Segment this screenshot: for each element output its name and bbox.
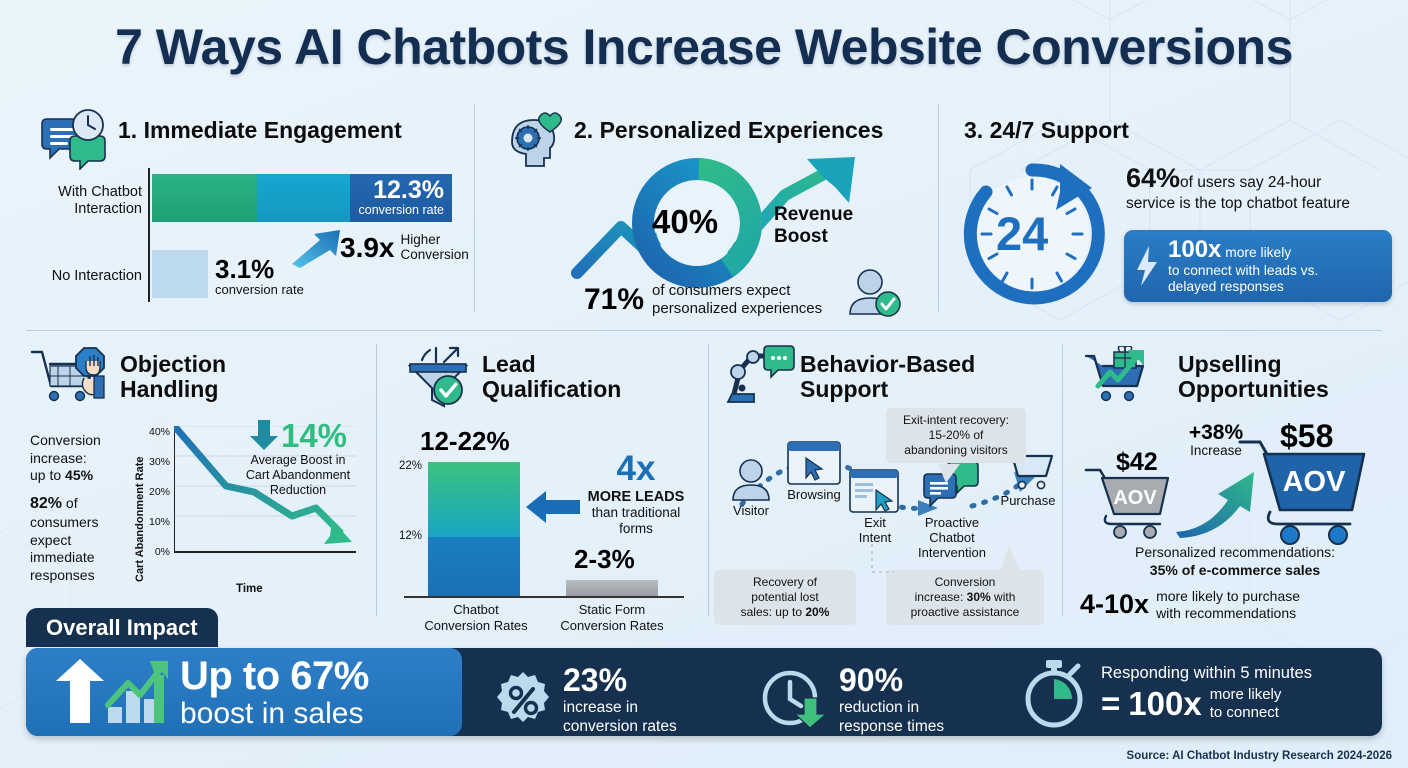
panel-objection-handling: Objection Handling Conversion increase: … — [0, 340, 376, 616]
panel1-row2-label: No Interaction — [10, 268, 142, 285]
panel4-title: Objection Handling — [120, 352, 226, 402]
stopwatch-big: 100x — [1128, 684, 1201, 724]
panel6-callout-conversion: Conversion increase: 30% with proactive … — [886, 570, 1044, 625]
panel1-multiplier: 3.9x — [340, 232, 395, 264]
panel5-tick-12: 12% — [384, 530, 422, 542]
panel1-row1-label: With Chatbot Interaction — [10, 184, 142, 218]
panel6-step-4-label: Proactive Chatbot Intervention — [906, 516, 998, 561]
panel5-cat-1: Chatbot Conversion Rates — [420, 602, 532, 633]
up-arrow-bar-chart-icon — [40, 657, 168, 727]
panel1-multiplier-note: Higher Conversion — [401, 233, 469, 263]
panel3-stat-text-l2: service is the top chatbot feature — [1126, 195, 1350, 212]
panel5-tick-22: 22% — [384, 460, 422, 472]
panel-behavior-based-support: Behavior-Based Support Visitor Browsing — [708, 340, 1062, 620]
panel6-callout-right-tail — [998, 546, 1022, 572]
bottom-item-conversion: 23% increase in conversion rates — [494, 664, 677, 736]
overall-impact-hero-text: Up to 67% boost in sales — [180, 656, 369, 729]
infographic-root: 7 Ways AI Chatbots Increase Website Conv… — [0, 0, 1408, 768]
panel6-title: Behavior-Based Support — [800, 352, 975, 402]
panel5-stat-number: 4x — [576, 452, 696, 485]
browser-exit-icon — [848, 468, 900, 514]
panel7-stat-group: 4-10x more likely to purchase with recom… — [1080, 588, 1300, 622]
panel5-chatbot-bar-lower — [428, 537, 520, 596]
panel-immediate-engagement: 1. Immediate Engagement With Chatbot Int… — [0, 100, 474, 315]
panel6-step-1-label: Visitor — [718, 504, 784, 519]
panel1-row1-value-group: 12.3% conversion rate — [359, 178, 444, 217]
panel3-stat: 64%of users say 24-hour service is the t… — [1126, 162, 1398, 214]
panel2-donut-label: Revenue Boost — [774, 204, 853, 248]
panel3-highlight-card: 100x more likely to connect with leads v… — [1124, 230, 1392, 302]
panel-upselling-opportunities: Upselling Opportunities $42 AOV $58 AOV … — [1062, 340, 1408, 620]
panel-lead-qualification: Lead Qualification 12-22% 22% 12% Chatbo… — [376, 340, 708, 620]
panel4-tick-10: 10% — [140, 516, 170, 528]
panel6-step-2-label: Browsing — [778, 488, 850, 503]
panel4-tick-0: 0% — [140, 546, 170, 558]
robot-arm-chat-icon — [722, 344, 798, 406]
user-check-icon — [848, 268, 902, 318]
panel6-callout-recovery: Recovery of potential lost sales: up to … — [714, 570, 856, 625]
panel5-x-axis — [404, 596, 684, 598]
cart-stop-hand-icon — [28, 344, 108, 410]
panel5-range-label: 12-22% — [420, 426, 510, 457]
panel5-chatbot-bar-upper — [428, 462, 520, 537]
panel7-stat-text: more likely to purchase with recommendat… — [1156, 588, 1300, 622]
stopwatch-eq: = — [1101, 684, 1120, 724]
down-arrow-icon — [249, 418, 279, 452]
chat-clock-icon — [36, 108, 112, 170]
svg-text:AOV: AOV — [1113, 487, 1157, 509]
panel6-step-5-label: Purchase — [994, 494, 1062, 509]
panel6-callout-exit-intent: Exit-intent recovery: 15-20% of abandoni… — [886, 408, 1026, 463]
overall-impact-tab: Overall Impact — [26, 608, 218, 647]
panel6-step-3-label: Exit Intent — [840, 516, 910, 546]
panel7-increase-number: +38% — [1170, 422, 1262, 443]
clock-down-arrow-icon — [762, 670, 828, 730]
panel5-cat-2: Static Form Conversion Rates — [556, 602, 668, 633]
panel2-donut-value: 40% — [652, 203, 718, 241]
browser-cursor-icon — [786, 440, 842, 486]
panel3-clock-number: 24 — [996, 206, 1048, 261]
panel5-static-bar — [566, 580, 658, 596]
panel4-highlight-group: 14% Average Boost in Cart Abandonment Re… — [222, 418, 374, 497]
bottom-item-response-time: 90% reduction in response times — [762, 664, 944, 736]
panel5-static-label: 2-3% — [574, 544, 635, 575]
panel7-stat-number: 4-10x — [1080, 589, 1149, 620]
panel2-title: 2. Personalized Experiences — [574, 118, 883, 143]
panel5-stat-sub: than traditional forms — [576, 505, 696, 536]
panel4-note-2: 82% of consumers expect immediate respon… — [30, 494, 125, 584]
panel4-tick-40: 40% — [140, 426, 170, 438]
panel5-stat-main: MORE LEADS — [576, 489, 696, 505]
panel-personalized-experiences: 2. Personalized Experiences 40% — [474, 100, 938, 315]
panel3-stat-text-l1: of users say 24-hour — [1180, 174, 1321, 191]
panel6-dotted-connector — [866, 544, 896, 578]
source-note: Source: AI Chatbot Industry Research 202… — [1127, 750, 1392, 762]
svg-text:AOV: AOV — [1283, 466, 1347, 498]
page-title: 7 Ways AI Chatbots Increase Website Conv… — [0, 18, 1408, 76]
stopwatch-icon — [1018, 658, 1090, 730]
panel1-bar-no-interaction — [152, 250, 208, 298]
panel1-title: 1. Immediate Engagement — [118, 118, 402, 143]
brain-gear-heart-icon — [504, 108, 570, 170]
panel1-multiplier-group: 3.9x Higher Conversion — [340, 232, 469, 264]
divider-h1 — [26, 330, 1382, 331]
panel2-stat-number: 71% — [584, 283, 644, 317]
panel2-stat-text: of consumers expect personalized experie… — [652, 282, 822, 317]
bottom-item-stopwatch: Responding within 5 minutes = 100x more … — [1018, 658, 1312, 730]
person-icon — [730, 458, 772, 502]
panel-247-support: 3. 24/7 Support 24 64%of users say 24-ho… — [938, 100, 1408, 315]
panel3-card-text: 100x more likely to connect with leads v… — [1168, 236, 1318, 296]
panel7-title: Upselling Opportunities — [1178, 352, 1329, 402]
panel7-note: Personalized recommendations: 35% of e-c… — [1074, 544, 1396, 579]
lightning-bolt-icon — [1134, 244, 1160, 288]
panel3-stat-number: 64% — [1126, 163, 1180, 193]
bottom-item-response-text: 90% reduction in response times — [839, 664, 944, 736]
panel5-stat-group: 4x MORE LEADS than traditional forms — [576, 452, 696, 536]
bottom-item-stopwatch-text: Responding within 5 minutes = 100x more … — [1101, 664, 1312, 723]
panel1-axis — [148, 168, 150, 302]
panel2-stat-group: 71% of consumers expect personalized exp… — [584, 282, 822, 317]
panel4-highlight-sub: Average Boost in Cart Abandonment Reduct… — [222, 453, 374, 497]
panel1-bar-with-chatbot: 12.3% conversion rate — [152, 174, 452, 222]
panel4-tick-30: 30% — [140, 456, 170, 468]
panel7-increase-text: Increase — [1170, 443, 1262, 458]
cart-before-icon: AOV — [1084, 464, 1184, 540]
panel4-x-axis-label: Time — [236, 583, 263, 595]
cart-gift-growth-icon — [1084, 346, 1168, 408]
panel7-growth-arrow-icon — [1174, 460, 1268, 538]
bottom-item-conversion-text: 23% increase in conversion rates — [563, 664, 677, 736]
panel5-left-arrow-icon — [524, 488, 582, 526]
panel4-note-1: Conversion increase: up to 45% — [30, 432, 120, 485]
panel7-increase-group: +38% Increase — [1170, 422, 1262, 458]
panel5-title: Lead Qualification — [482, 352, 621, 402]
stopwatch-small: more likely to connect — [1210, 686, 1282, 721]
funnel-check-icon — [400, 344, 478, 410]
percent-badge-icon — [494, 671, 552, 729]
overall-impact-hero: Up to 67% boost in sales — [26, 648, 462, 736]
panel4-tick-20: 20% — [140, 486, 170, 498]
panel6-callout-top-tail — [936, 464, 962, 484]
panel4-highlight-number: 14% — [281, 419, 347, 452]
panel3-title: 3. 24/7 Support — [964, 118, 1129, 143]
